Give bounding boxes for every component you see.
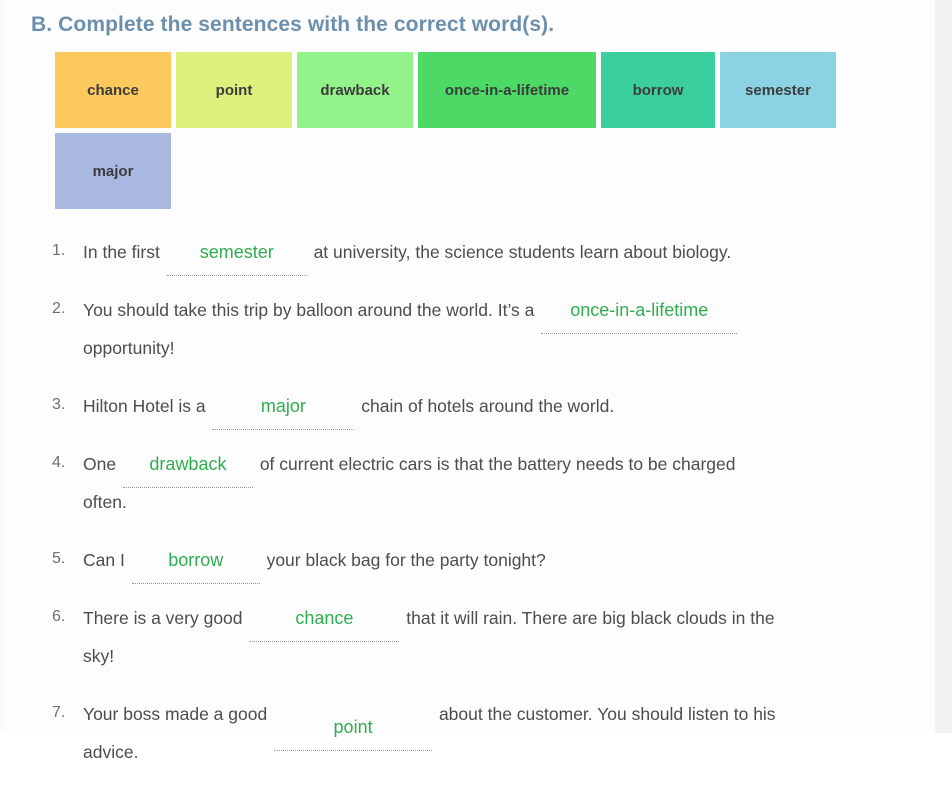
page-left-margin xyxy=(0,0,5,733)
sentence-segment: Your boss made a good xyxy=(83,704,272,724)
item-number: 2. xyxy=(52,291,65,327)
answer-text: point xyxy=(334,708,373,746)
word-bank-chip[interactable]: borrow xyxy=(601,52,715,128)
exercise-item: 5.Can I borrow your black bag for the pa… xyxy=(52,541,932,579)
exercise-item: 7.Your boss made a good point about the … xyxy=(52,695,932,771)
answer-rule xyxy=(132,583,260,584)
item-text: Hilton Hotel is a major chain of hotels … xyxy=(83,396,614,416)
item-number: 1. xyxy=(52,233,65,269)
answer-text: semester xyxy=(200,233,274,271)
item-number: 7. xyxy=(52,695,65,731)
answer-rule xyxy=(274,750,432,751)
word-bank-chip[interactable]: major xyxy=(55,133,171,209)
word-bank-chip[interactable]: chance xyxy=(55,52,171,128)
page-title: B. Complete the sentences with the corre… xyxy=(31,13,554,37)
word-bank-chip[interactable]: semester xyxy=(720,52,836,128)
answer-rule xyxy=(249,641,399,642)
exercise-item: 1.In the first semester at university, t… xyxy=(52,233,932,271)
sentence-segment: Can I xyxy=(83,550,130,570)
answer-blank[interactable]: semester xyxy=(167,233,307,271)
exercise-item: 2.You should take this trip by balloon a… xyxy=(52,291,932,367)
worksheet-page: B. Complete the sentences with the corre… xyxy=(0,0,952,733)
sentence-segment: at university, the science students lear… xyxy=(309,242,732,262)
answer-blank[interactable]: once-in-a-lifetime xyxy=(541,291,737,329)
page-right-margin xyxy=(935,0,952,733)
sentence-segment: chain of hotels around the world. xyxy=(356,396,614,416)
word-bank-chip[interactable]: drawback xyxy=(297,52,413,128)
item-text: In the first semester at university, the… xyxy=(83,242,731,262)
answer-rule xyxy=(167,275,307,276)
item-text: There is a very good chance that it will… xyxy=(83,608,775,666)
word-bank-chip[interactable]: once-in-a-lifetime xyxy=(418,52,596,128)
item-text: Can I borrow your black bag for the part… xyxy=(83,550,546,570)
answer-text: drawback xyxy=(149,445,226,483)
item-number: 3. xyxy=(52,387,65,423)
sentence-segment: One xyxy=(83,454,121,474)
word-bank-chip[interactable]: point xyxy=(176,52,292,128)
answer-rule xyxy=(541,333,737,334)
answer-blank[interactable]: major xyxy=(212,387,354,425)
word-bank: chancepointdrawbackonce-in-a-lifetimebor… xyxy=(55,52,895,214)
exercise-item: 3.Hilton Hotel is a major chain of hotel… xyxy=(52,387,932,425)
item-text: Your boss made a good point about the cu… xyxy=(83,704,776,762)
item-number: 6. xyxy=(52,599,65,635)
answer-blank[interactable]: chance xyxy=(249,599,399,637)
sentence-segment: In the first xyxy=(83,242,165,262)
word-bank-row: chancepointdrawbackonce-in-a-lifetimebor… xyxy=(55,52,895,128)
exercise-list: 1.In the first semester at university, t… xyxy=(52,233,932,791)
answer-blank[interactable]: borrow xyxy=(132,541,260,579)
exercise-item: 6.There is a very good chance that it wi… xyxy=(52,599,932,675)
word-bank-row: major xyxy=(55,133,895,209)
answer-rule xyxy=(123,487,253,488)
answer-text: once-in-a-lifetime xyxy=(570,291,708,329)
answer-rule xyxy=(212,429,354,430)
answer-text: major xyxy=(261,387,306,425)
sentence-segment: There is a very good xyxy=(83,608,247,628)
item-text: You should take this trip by balloon aro… xyxy=(83,300,739,358)
exercise-item: 4.One drawback of current electric cars … xyxy=(52,445,932,521)
sentence-segment: You should take this trip by balloon aro… xyxy=(83,300,539,320)
sentence-segment: opportunity! xyxy=(83,338,174,358)
sentence-segment: Hilton Hotel is a xyxy=(83,396,210,416)
answer-blank[interactable]: drawback xyxy=(123,445,253,483)
answer-text: chance xyxy=(295,599,353,637)
answer-text: borrow xyxy=(168,541,223,579)
item-number: 4. xyxy=(52,445,65,481)
item-number: 5. xyxy=(52,541,65,577)
answer-blank[interactable]: point xyxy=(274,695,432,733)
item-text: One drawback of current electric cars is… xyxy=(83,454,736,512)
sentence-segment: your black bag for the party tonight? xyxy=(262,550,546,570)
